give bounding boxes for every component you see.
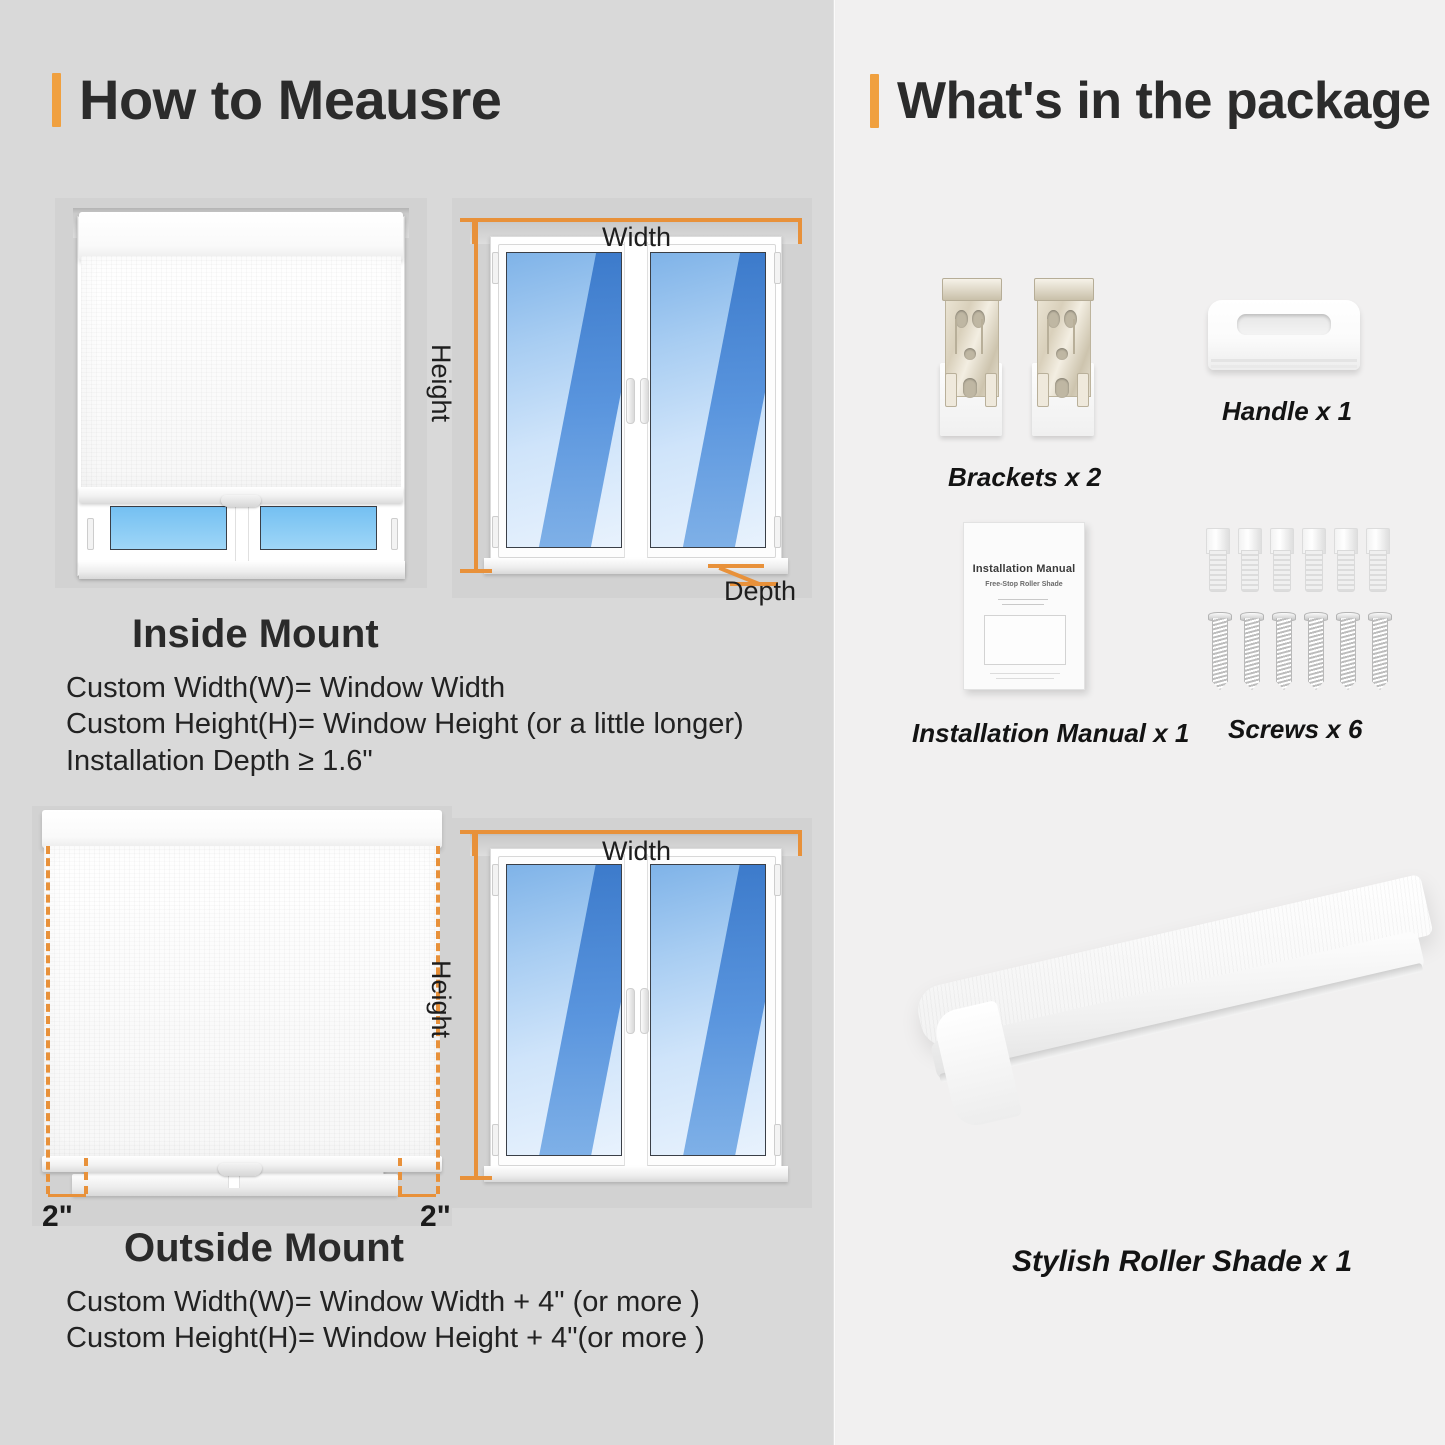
bracket-ridge-right (981, 319, 983, 354)
page-title-right: What's in the package (897, 75, 1431, 127)
outside-mount-line-2: Custom Height(H)= Window Height + 4"(or … (66, 1320, 705, 1356)
overhang-label-right: 2" (420, 1200, 451, 1234)
height-measure-cap-bottom (460, 1176, 492, 1180)
handle-right-icon (640, 378, 649, 424)
bracket-ridge-left (1047, 319, 1049, 354)
shade-fabric (81, 256, 401, 489)
manual-line-b (1002, 604, 1044, 605)
inside-mount-line-1: Custom Width(W)= Window Width (66, 670, 744, 706)
outside-mount-title: Outside Mount (124, 1226, 404, 1271)
outside-mount-measure-diagram: Width Height (452, 818, 812, 1208)
screw-shaft (1372, 618, 1388, 690)
overhang-label-left: 2" (42, 1200, 73, 1234)
inside-mount-title: Inside Mount (132, 612, 379, 657)
height-label: Height (425, 960, 456, 1038)
inside-mount-line-3: Installation Depth ≥ 1.6" (66, 743, 744, 779)
height-measure-line (474, 830, 478, 1180)
handle-edge-lower (1211, 365, 1357, 368)
screw-shaft (1340, 618, 1356, 690)
infographic-page: How to Meausre What's in the package (0, 0, 1445, 1445)
manual-cover-title: Installation Manual (964, 563, 1084, 575)
window-hinge-top-right (774, 252, 781, 284)
outside-mount-line-1: Custom Width(W)= Window Width + 4" (or m… (66, 1284, 705, 1320)
handle-left-icon (626, 988, 635, 1034)
manual-line-a (998, 599, 1048, 600)
inside-mount-line-2: Custom Height(H)= Window Height (or a li… (66, 706, 744, 742)
handle-item (1208, 300, 1360, 370)
window-hinge-bottom-left (492, 516, 499, 548)
window-hinge-left (87, 518, 94, 550)
overhang-arrow-right (398, 1194, 436, 1197)
handle-right-icon (640, 988, 649, 1034)
bracket-ridge-right (1073, 319, 1075, 354)
window-hinge-bottom-right (774, 516, 781, 548)
manual-footer-line-a (990, 673, 1060, 674)
anchor-body (1369, 550, 1387, 592)
anchor-body (1305, 550, 1323, 592)
manual-footer-line-b (996, 678, 1054, 679)
outside-mount-text-block: Custom Width(W)= Window Width + 4" (or m… (66, 1284, 705, 1357)
width-measure-cap-right (798, 830, 802, 856)
handle-label: Handle x 1 (1222, 396, 1352, 427)
wall-anchor (1302, 528, 1324, 590)
roller-shade-product (920, 1048, 1440, 1108)
bracket-hole-b (1064, 310, 1077, 328)
bracket-slot-right (985, 373, 997, 407)
window-hinge-top-left (492, 252, 499, 284)
window-glass-left (110, 506, 227, 550)
screw (1372, 612, 1386, 690)
bracket-hole-c (964, 348, 976, 360)
window-hinge-bottom-left (492, 1124, 499, 1156)
shade-valance (79, 212, 403, 260)
overhang-arrow-left (48, 1194, 86, 1197)
anchor-body (1241, 550, 1259, 592)
shade-pull-handle (221, 495, 261, 507)
bracket-top-flange (1034, 278, 1093, 301)
window-handle-pair (626, 988, 649, 1034)
window-glass-left (506, 252, 622, 548)
bracket-item-2 (1032, 278, 1094, 436)
screw-shaft (1244, 618, 1260, 690)
screw-shaft (1212, 618, 1228, 690)
screw (1340, 612, 1354, 690)
bracket-hole-b (972, 310, 985, 328)
page-title-left: How to Meausre (79, 72, 501, 128)
bracket-hole-c (1056, 348, 1068, 360)
height-measure-line (474, 218, 478, 573)
depth-line-top (708, 564, 764, 568)
screw (1276, 612, 1290, 690)
inside-mount-measure-diagram: Width Height Depth (452, 198, 812, 598)
screw (1244, 612, 1258, 690)
window-glass-right (260, 506, 377, 550)
manual-cover-subtitle: Free-Stop Roller Shade (964, 581, 1084, 588)
bracket-ridge-left (955, 319, 957, 354)
screws-label: Screws x 6 (1228, 714, 1362, 745)
inside-mount-shade-illustration (55, 198, 427, 588)
window-hinge-top-right (774, 864, 781, 896)
bracket-slot-left (1037, 373, 1049, 407)
anchor-body (1337, 550, 1355, 592)
brackets-label: Brackets x 2 (948, 462, 1101, 493)
window-glass-left (506, 864, 622, 1156)
manual-label: Installation Manual x 1 (912, 718, 1189, 749)
anchor-body (1209, 550, 1227, 592)
screw-shaft (1308, 618, 1324, 690)
bracket-item-1 (940, 278, 1002, 436)
height-measure-cap-top (460, 830, 492, 834)
bracket-center-hole (1055, 378, 1069, 398)
window-glass-right (650, 864, 766, 1156)
window-handle-pair (626, 378, 649, 424)
window-sill (484, 1166, 788, 1182)
overhang-guide-left (46, 846, 50, 1194)
window-sill (79, 561, 405, 579)
anchor-body (1273, 550, 1291, 592)
package-heading: What's in the package (870, 74, 1431, 128)
screw (1308, 612, 1322, 690)
installation-manual-item: Installation Manual Free-Stop Roller Sha… (963, 522, 1085, 690)
handle-grip-slot (1237, 314, 1331, 335)
bracket-top-flange (942, 278, 1001, 301)
window-mullion (235, 498, 249, 566)
shade-pull-handle (218, 1163, 262, 1176)
bracket-center-hole (963, 378, 977, 398)
window-edge-guide-left (84, 1158, 88, 1194)
bracket-slot-right (1077, 373, 1089, 407)
shade-valance (42, 810, 442, 848)
roller-shade-label: Stylish Roller Shade x 1 (1012, 1245, 1352, 1279)
window-hinge-right (391, 518, 398, 550)
handle-edge-upper (1211, 359, 1357, 362)
wall-anchor (1238, 528, 1260, 590)
height-measure-cap-bottom (460, 569, 492, 573)
wall-anchor (1206, 528, 1228, 590)
accent-bar-icon (870, 74, 879, 128)
panel-divider (833, 0, 836, 1445)
inside-mount-text-block: Custom Width(W)= Window Width Custom Hei… (66, 670, 744, 779)
width-label: Width (602, 222, 671, 253)
width-label: Width (602, 836, 671, 867)
depth-label: Depth (724, 576, 796, 607)
window-hinge-bottom-right (774, 1124, 781, 1156)
handle-left-icon (626, 378, 635, 424)
bracket-slot-left (945, 373, 957, 407)
how-to-measure-heading: How to Meausre (52, 72, 501, 128)
wall-anchor (1366, 528, 1388, 590)
manual-cover-figure (984, 615, 1066, 665)
screw-shaft (1276, 618, 1292, 690)
wall-anchor (1334, 528, 1356, 590)
width-measure-line (472, 830, 802, 834)
accent-bar-icon (52, 73, 61, 127)
screw (1212, 612, 1226, 690)
wall-anchor (1270, 528, 1292, 590)
height-label: Height (425, 344, 456, 422)
window-glass-right (650, 252, 766, 548)
outside-mount-shade-illustration (32, 806, 452, 1226)
shade-fabric (44, 846, 440, 1158)
window-hinge-top-left (492, 864, 499, 896)
width-measure-cap-right (798, 218, 802, 244)
height-measure-cap-top (460, 218, 492, 222)
window-edge-guide-right (398, 1158, 402, 1194)
